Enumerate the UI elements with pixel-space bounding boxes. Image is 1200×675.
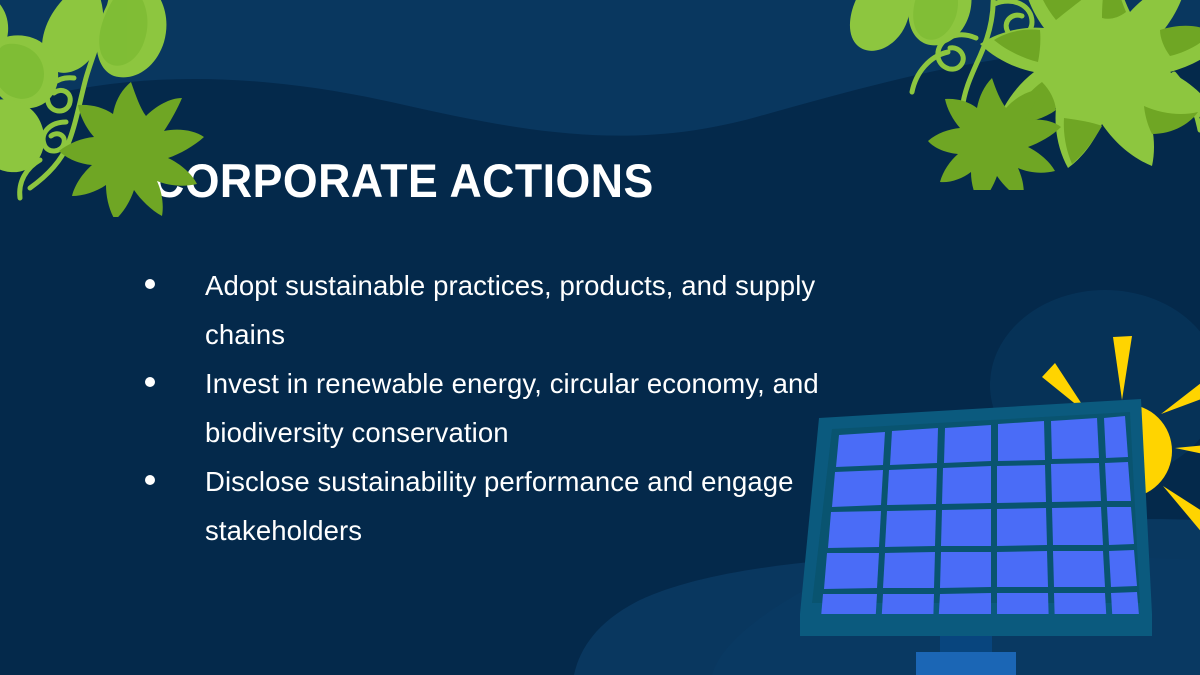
leaf-cluster-shadow (913, 0, 958, 40)
leaf-cluster-light (0, 0, 166, 172)
list-item-label: Adopt sustainable practices, products, a… (205, 262, 834, 359)
foliage-top-right (844, 0, 1200, 190)
list-item: Invest in renewable energy, circular eco… (134, 360, 834, 457)
palmate-leaf-small (928, 78, 1061, 190)
palmate-leaf-large (980, 0, 1200, 168)
list-item: Disclose sustainability performance and … (134, 458, 834, 555)
presentation-slide: CORPORATE ACTIONS Adopt sustainable prac… (0, 0, 1200, 675)
vine-tendrils (20, 0, 112, 198)
panel-frame (800, 399, 1152, 614)
panel-stand-base (916, 652, 1016, 675)
sun-rays (1013, 336, 1200, 563)
list-item-label: Disclose sustainability performance and … (205, 458, 834, 555)
solar-panel-illustration (780, 320, 1200, 675)
leaf-cluster-light (850, 0, 972, 51)
list-item: Adopt sustainable practices, products, a… (134, 262, 834, 359)
bullet-dot-icon (145, 475, 155, 485)
background-wave-blob (0, 0, 1200, 136)
leaf-cluster-shadow (0, 0, 147, 99)
panel-frame-bottom (800, 614, 1152, 636)
sun-disc (1078, 404, 1172, 498)
leaf-vein-shading (994, 0, 1200, 164)
page-title: CORPORATE ACTIONS (152, 157, 654, 204)
sun-icon (1013, 336, 1200, 563)
panel-cell-grid (820, 416, 1140, 629)
panel-stand-neck (940, 614, 992, 658)
background-corner-blob (574, 554, 1200, 675)
background-sun-halo-blob (990, 290, 1200, 480)
bullet-dot-icon (145, 377, 155, 387)
bullet-list: Adopt sustainable practices, products, a… (134, 262, 834, 556)
vine-tendrils (912, 0, 1200, 130)
panel-frame-inner (812, 412, 1140, 603)
list-item-label: Invest in renewable energy, circular eco… (205, 360, 834, 457)
bullet-dot-icon (145, 279, 155, 289)
